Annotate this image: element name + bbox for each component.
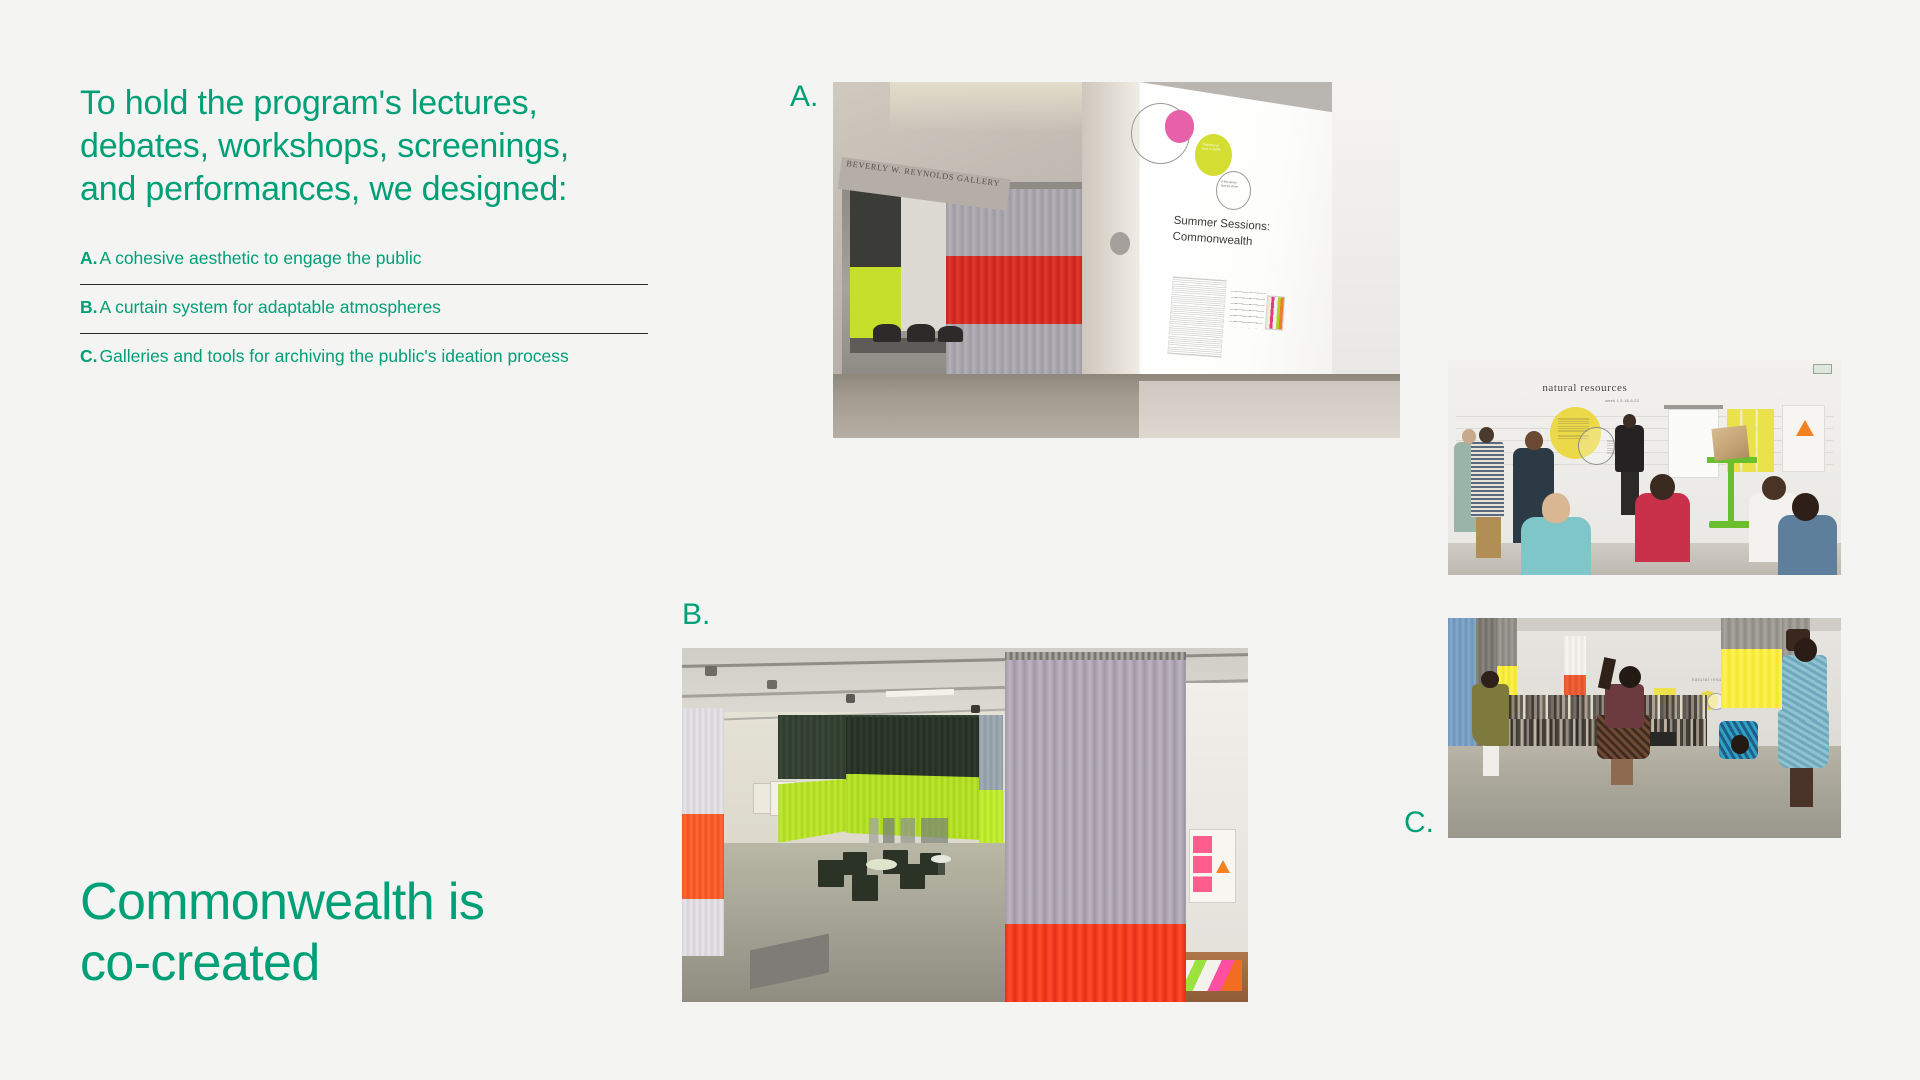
- wall-title-text: natural resources: [1542, 382, 1627, 394]
- natural-resources-session-photo: natural resources week 1 5.18-6.22: [1448, 360, 1841, 575]
- screen-rail: [1664, 405, 1723, 409]
- red-curtain-band: [1005, 924, 1186, 1002]
- polished-floor-right: [1139, 381, 1400, 438]
- dancer-body: [1605, 684, 1644, 728]
- side-table-base: [938, 862, 945, 874]
- outline-circle-caption: A first space that we share: [1221, 179, 1239, 188]
- kicker-headline: Commonwealth is co-created: [80, 872, 700, 994]
- curtain-track-rail: [1005, 652, 1186, 660]
- exit-sign: [1813, 364, 1831, 374]
- list-item: A.A cohesive aesthetic to engage the pub…: [80, 236, 648, 285]
- round-table: [866, 859, 897, 870]
- cardboard-prototype: [1712, 425, 1751, 461]
- performance-photo: natural resources: [1448, 618, 1841, 838]
- photo-b-scene: [682, 648, 1248, 1002]
- cube-seat: [852, 875, 878, 902]
- list-item-text-a: A cohesive aesthetic to engage the publi…: [100, 248, 422, 268]
- orange-triangle-icon: [1216, 860, 1230, 873]
- photo-c1-scene: natural resources week 1 5.18-6.22: [1448, 360, 1841, 575]
- left-text-column: To hold the program's lectures, debates,…: [80, 82, 660, 382]
- list-item-text-c: Galleries and tools for archiving the pu…: [100, 346, 569, 366]
- paper-screen: [1668, 409, 1719, 478]
- list-item-letter-b: B.: [80, 297, 98, 317]
- track-light: [767, 680, 777, 689]
- presenter-torso: [1615, 425, 1644, 472]
- design-goal-list: A.A cohesive aesthetic to engage the pub…: [80, 236, 648, 382]
- photo-c2-scene: natural resources: [1448, 618, 1841, 838]
- dancer-body: [1472, 684, 1510, 746]
- curtain-system-photo: [682, 648, 1248, 1002]
- right-wall: [1180, 683, 1248, 959]
- lede-paragraph: To hold the program's lectures, debates,…: [80, 82, 660, 210]
- stacked-chairs: [869, 818, 948, 843]
- red-curtain-band: [946, 256, 1082, 324]
- attendee-legs: [1476, 511, 1502, 558]
- cube-seat: [818, 860, 844, 887]
- list-item-letter-c: C.: [80, 346, 98, 366]
- wall-rule-lines: [1229, 291, 1265, 329]
- side-table: [931, 855, 951, 863]
- attendee-head: [1525, 431, 1543, 450]
- list-item: C.Galleries and tools for archiving the …: [80, 334, 648, 382]
- lounge-seat: [907, 324, 935, 342]
- track-light: [846, 694, 855, 702]
- attendee-torso: [1778, 515, 1837, 575]
- track-light: [705, 666, 717, 677]
- list-item: B.A curtain system for adaptable atmosph…: [80, 285, 648, 334]
- grey-curtain: [1721, 618, 1788, 651]
- green-cart-post: [1728, 461, 1734, 526]
- lounge-seat: [873, 324, 901, 342]
- color-swatch-strip: [1265, 295, 1285, 330]
- dancer-legs: [1611, 754, 1633, 785]
- attendee-head: [1650, 474, 1674, 500]
- lime-circle-caption: Thinking out loud, in public: [1202, 143, 1221, 153]
- figure-label-b: B.: [682, 600, 710, 630]
- dancer-head: [1481, 671, 1498, 689]
- grey-circle: [1110, 232, 1130, 255]
- attendee-head: [1542, 493, 1570, 523]
- dark-green-curtain: [846, 717, 999, 781]
- gallery-entrance-photo: BEVERLY W. REYNOLDS GALLERY Thinking out…: [833, 82, 1400, 438]
- sticky-notes: [1193, 836, 1212, 893]
- orange-triangle-icon: [1796, 420, 1814, 436]
- attendee-head: [1762, 476, 1786, 500]
- photo-a-scene: BEVERLY W. REYNOLDS GALLERY Thinking out…: [833, 82, 1400, 438]
- figure-label-c: C.: [1404, 808, 1434, 838]
- wall-body-copy: [1168, 276, 1227, 358]
- dancer-body: [1782, 655, 1827, 721]
- lounge-seat: [938, 326, 964, 342]
- attendee-torso: [1635, 493, 1690, 562]
- figure-label-a: A.: [790, 82, 818, 112]
- list-item-letter-a: A.: [80, 248, 98, 268]
- list-item-text-b: A curtain system for adaptable atmospher…: [100, 297, 441, 317]
- orange-curtain-band: [1564, 675, 1586, 697]
- slide-root: To hold the program's lectures, debates,…: [0, 0, 1920, 1080]
- ceiling-glow: [890, 82, 1094, 132]
- wall-subtitle-text: week 1 5.18-6.22: [1605, 399, 1639, 403]
- far-right-wall: [1332, 82, 1400, 388]
- cube-seat: [843, 852, 867, 875]
- presenter-head: [1623, 414, 1636, 428]
- attendee-torso: [1521, 517, 1592, 575]
- track-light: [971, 705, 980, 713]
- orange-curtain-band: [682, 814, 724, 899]
- lime-circle: [1195, 134, 1232, 177]
- pink-circle: [1165, 110, 1194, 142]
- right-display-panel: [1782, 405, 1825, 472]
- attendee-torso: [1471, 440, 1504, 517]
- green-cart-base: [1709, 521, 1752, 527]
- yellow-curtain: [1721, 649, 1788, 708]
